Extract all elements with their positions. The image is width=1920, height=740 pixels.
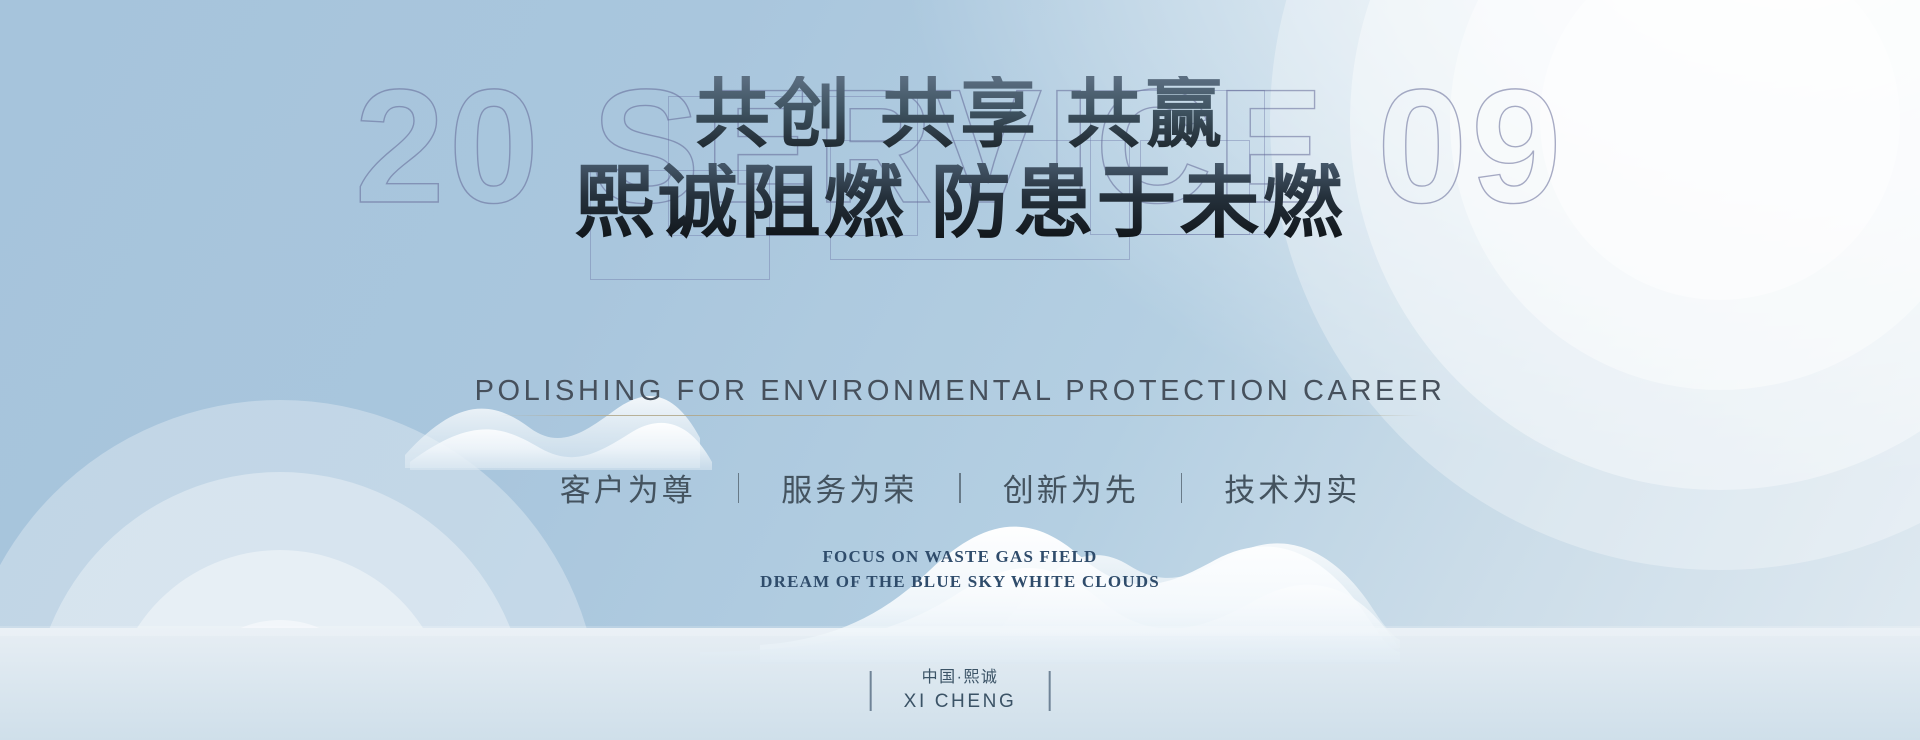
signature-chinese: 中国·熙诚 — [904, 666, 1017, 689]
headline-word: 共创 — [694, 73, 854, 157]
values-row: 客户为尊 服务为荣 创新为先 技术为实 — [0, 465, 1920, 510]
signature-bar-left-icon — [870, 671, 872, 711]
value-item-2: 服务为荣 — [781, 465, 917, 510]
value-separator — [1181, 473, 1183, 503]
headline-word: 防患于未燃 — [931, 160, 1346, 248]
signature-english: XI CHENG — [904, 689, 1017, 715]
headline-line-2: 熙诚阻燃防患于未燃 — [0, 163, 1920, 246]
headline-word: 共享 — [880, 73, 1040, 157]
subtitle-underline — [500, 415, 1420, 416]
headline-block: 共创共享共赢 熙诚阻燃防患于未燃 — [0, 76, 1920, 246]
value-item-4: 技术为实 — [1224, 465, 1360, 510]
promo-banner: 20 SERVICE 09 — [0, 0, 1920, 740]
headline-line-1: 共创共享共赢 — [0, 76, 1920, 155]
mini-english-line-1: FOCUS ON WASTE GAS FIELD — [0, 545, 1920, 570]
value-item-3: 创新为先 — [1003, 465, 1139, 510]
subtitle-text: POLISHING FOR ENVIRONMENTAL PROTECTION C… — [0, 375, 1920, 408]
value-separator — [738, 473, 740, 503]
signature-bar-right-icon — [1048, 671, 1050, 711]
value-item-1: 客户为尊 — [560, 465, 696, 510]
headline-word: 熙诚阻燃 — [575, 160, 907, 248]
mini-english-line-2: DREAM OF THE BLUE SKY WHITE CLOUDS — [0, 570, 1920, 595]
brand-signature: 中国·熙诚 XI CHENG — [870, 666, 1051, 715]
mini-english-block: FOCUS ON WASTE GAS FIELD DREAM OF THE BL… — [0, 545, 1920, 594]
signature-text: 中国·熙诚 XI CHENG — [904, 666, 1017, 715]
value-separator — [959, 473, 961, 503]
headline-word: 共赢 — [1066, 73, 1226, 157]
